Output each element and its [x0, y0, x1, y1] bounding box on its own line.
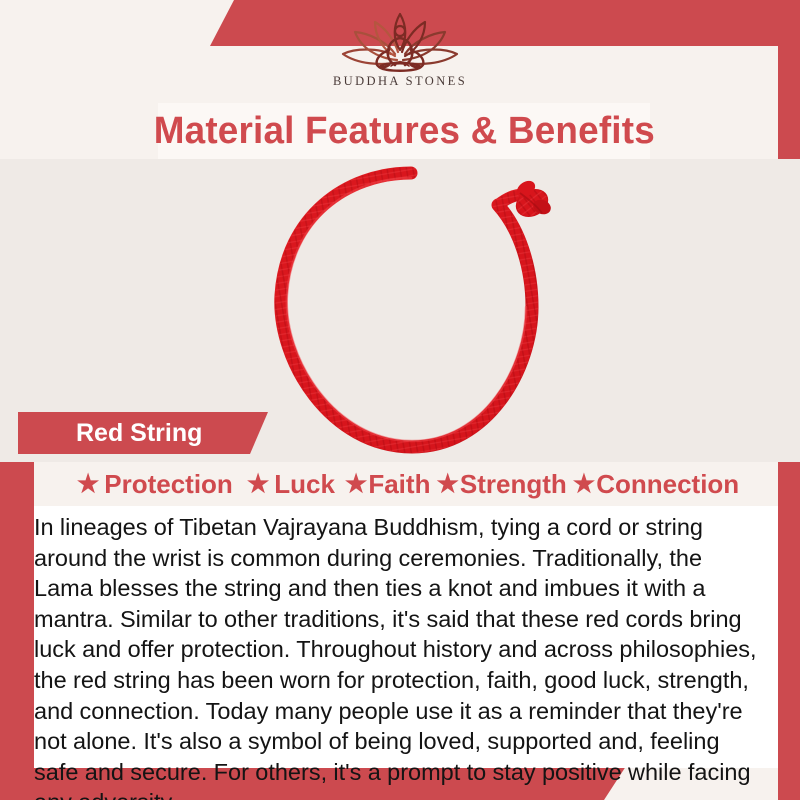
material-label-ribbon: Red String — [18, 412, 268, 454]
page-title: Material Features & Benefits — [153, 110, 654, 153]
benefits-row: ★ Protection ★ Luck ★ Faith ★ Strength ★… — [34, 462, 778, 506]
infographic-card: BUDDHA STONES Material Features & Benefi… — [0, 0, 800, 800]
brand-logo: BUDDHA STONES — [300, 4, 500, 100]
benefit-item-protection: ★ Protection — [70, 469, 240, 500]
benefit-label-luck: Luck — [274, 469, 335, 500]
lotus-meditation-icon — [325, 10, 475, 76]
star-icon: ★ — [247, 472, 269, 497]
star-icon: ★ — [345, 472, 367, 497]
brand-header: BUDDHA STONES — [0, 0, 800, 103]
benefit-item-strength: ★ Strength — [433, 469, 569, 500]
benefit-label-connection: Connection — [596, 469, 739, 500]
brand-name: BUDDHA STONES — [333, 74, 467, 89]
benefit-item-luck: ★ Luck — [240, 469, 342, 500]
benefit-label-strength: Strength — [460, 469, 567, 500]
description-panel: In lineages of Tibetan Vajrayana Buddhis… — [34, 506, 778, 768]
benefit-label-faith: Faith — [368, 469, 430, 500]
benefit-label-protection: Protection — [104, 469, 233, 500]
red-string-bracelet-image — [236, 159, 586, 462]
benefit-item-faith: ★ Faith — [342, 469, 434, 500]
star-icon: ★ — [436, 472, 458, 497]
title-banner: Material Features & Benefits — [158, 103, 650, 159]
star-icon: ★ — [573, 472, 595, 497]
material-label: Red String — [76, 419, 202, 448]
description-text: In lineages of Tibetan Vajrayana Buddhis… — [34, 512, 764, 800]
benefit-item-connection: ★ Connection — [570, 469, 742, 500]
star-icon: ★ — [77, 472, 99, 497]
